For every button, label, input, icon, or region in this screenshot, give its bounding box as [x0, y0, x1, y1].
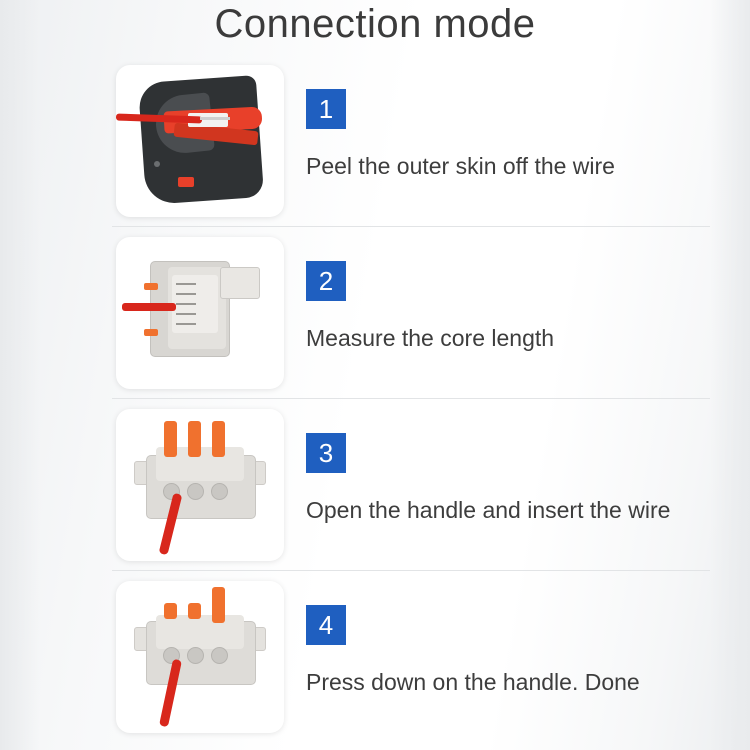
- step-2-photo: [116, 237, 284, 389]
- connector-levers-closed-icon: [116, 581, 284, 733]
- connector-levers-open-icon: [116, 409, 284, 561]
- instruction-poster: Connection mode 1 Peel the oute: [0, 0, 750, 750]
- step-2-text: Measure the core length: [306, 325, 554, 352]
- step-3-badge: 3: [306, 433, 346, 473]
- step-2-badge: 2: [306, 261, 346, 301]
- step-4-badge: 4: [306, 605, 346, 645]
- step-3-photo: [116, 409, 284, 561]
- step-4-text: Press down on the handle. Done: [306, 669, 640, 696]
- steps-list: 1 Peel the outer skin off the wire: [0, 55, 750, 743]
- step-2-content: 2 Measure the core length: [306, 237, 750, 389]
- step-4-photo: [116, 581, 284, 733]
- page-title: Connection mode: [0, 2, 750, 47]
- step-item-4: 4 Press down on the handle. Done: [0, 571, 750, 743]
- wire-stripper-tool-icon: [116, 65, 284, 217]
- step-1-photo: [116, 65, 284, 217]
- step-item-3: 3 Open the handle and insert the wire: [0, 399, 750, 571]
- step-1-badge: 1: [306, 89, 346, 129]
- step-1-text: Peel the outer skin off the wire: [306, 153, 615, 180]
- step-item-2: 2 Measure the core length: [0, 227, 750, 399]
- step-1-content: 1 Peel the outer skin off the wire: [306, 65, 750, 217]
- step-3-content: 3 Open the handle and insert the wire: [306, 409, 750, 561]
- step-3-text: Open the handle and insert the wire: [306, 497, 670, 524]
- connector-ruler-icon: [116, 237, 284, 389]
- step-item-1: 1 Peel the outer skin off the wire: [0, 55, 750, 227]
- step-4-content: 4 Press down on the handle. Done: [306, 581, 750, 733]
